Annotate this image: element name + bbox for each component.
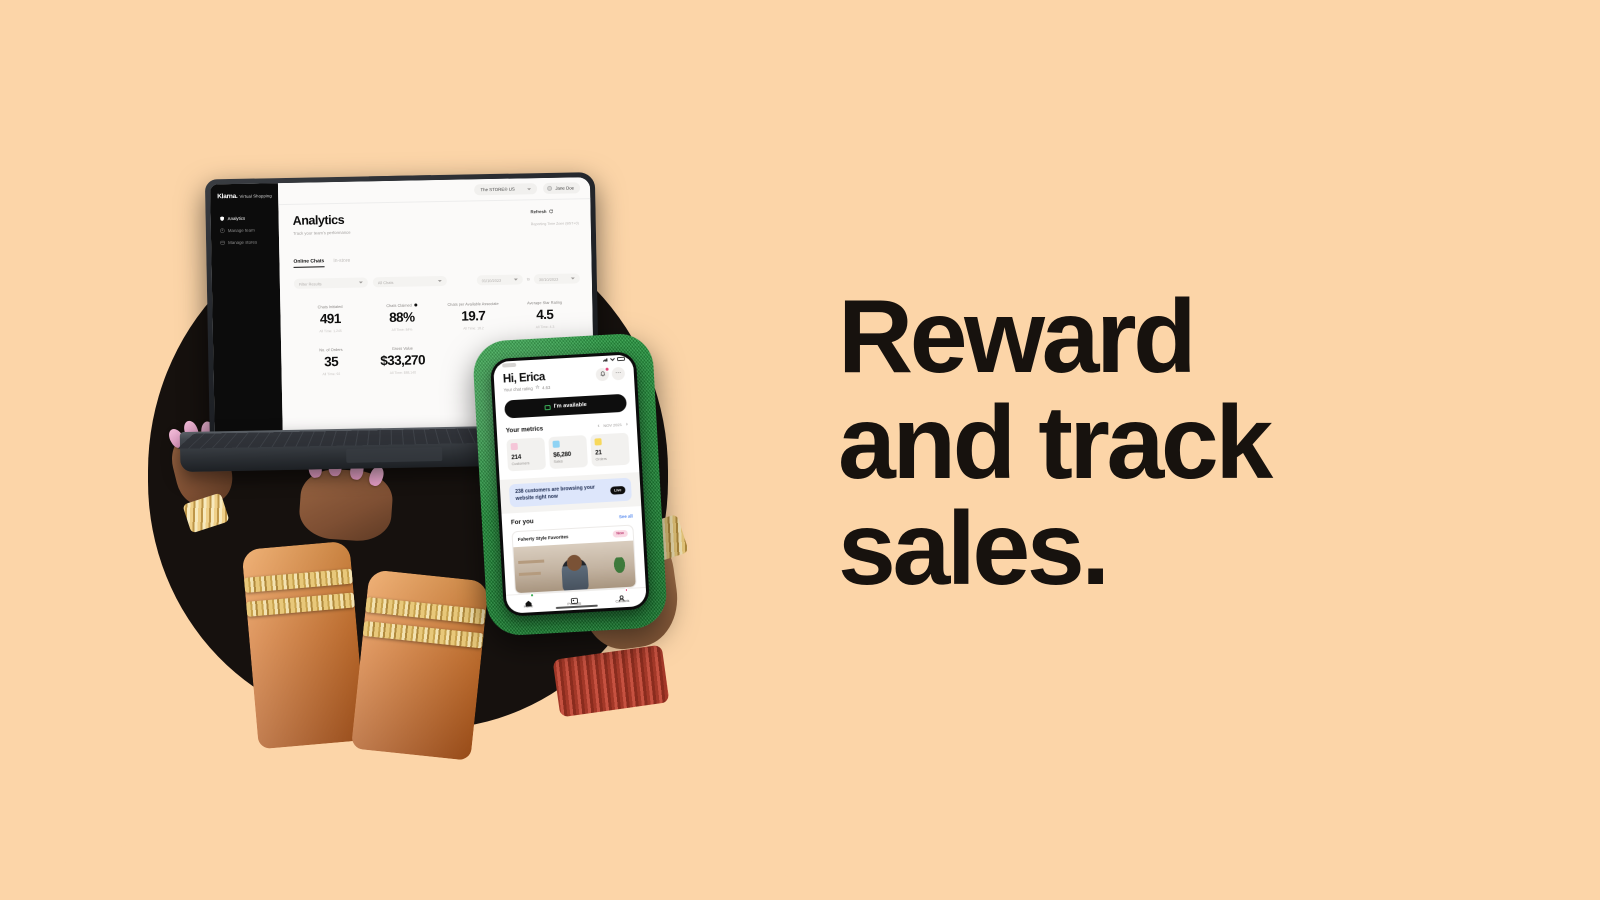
home-badge: [530, 594, 534, 598]
dashboard-sidebar: Klarna. Virtual Shopping Analytics: [210, 183, 283, 437]
greeting-text: Hi, Erica: [503, 371, 550, 386]
dashboard-header: Analytics Track your team's performance …: [293, 208, 579, 235]
chevron-down-icon: [514, 279, 518, 281]
page-title: Analytics: [293, 213, 351, 228]
metric-value: 19.7: [437, 309, 509, 324]
brand-subtitle: Virtual Shopping: [239, 193, 271, 199]
metric-caption: Sales: [554, 458, 584, 464]
see-all-link[interactable]: See all: [619, 513, 633, 519]
phone-header: Hi, Erica Your chat rating ☆ 4.63: [493, 362, 636, 428]
tab-contacts[interactable]: Contacts: [615, 589, 630, 604]
contacts-icon: [618, 589, 626, 597]
live-badge: Live: [610, 485, 626, 494]
phone-screen: Hi, Erica Your chat rating ☆ 4.63: [493, 354, 647, 613]
gold-chain-trim: [244, 569, 353, 593]
tab-products[interactable]: Products: [567, 592, 582, 607]
store-icon: [220, 240, 225, 245]
phone-device: Hi, Erica Your chat rating ☆ 4.63: [462, 328, 679, 644]
metric-note: All Time: 4.3: [509, 324, 581, 329]
blob-bottom-clip: [0, 835, 820, 900]
hero-photo-composition: Klarna. Virtual Shopping Analytics: [0, 0, 820, 900]
sidebar-item-label: Manage team: [228, 227, 255, 233]
wifi-icon: [610, 357, 615, 361]
date-from-input[interactable]: 01/10/2023: [477, 274, 523, 285]
shelf-decor: [518, 559, 544, 563]
refresh-icon: [549, 209, 554, 214]
metrics-section-title: Your metrics: [506, 426, 544, 435]
metric-card: Chats Claimed 88% All Time: 84%: [366, 302, 438, 332]
store-selector-dropdown[interactable]: The STORE® US: [474, 183, 537, 195]
availability-toggle-button[interactable]: I'm available: [504, 394, 627, 419]
sidebar-item-manage-stores[interactable]: Manage stores: [218, 235, 273, 248]
orange-leather-sleeve-left: [241, 541, 366, 750]
hero-headline: Reward and track sales.: [838, 284, 1478, 602]
shield-icon: [220, 216, 225, 221]
availability-label: I'm available: [554, 402, 587, 410]
metric-note: All Time: 84%: [366, 327, 438, 332]
new-badge: New: [612, 530, 628, 538]
customers-icon: [511, 443, 518, 450]
associates-filter-value: Filter Results: [299, 281, 322, 286]
chat-type-filter-value: All Chats: [378, 279, 394, 284]
for-you-section: For you See all Faherty Style Favorites …: [501, 506, 645, 595]
metric-note: All Time: 18.2: [438, 326, 510, 331]
date-range-to-label: to: [527, 277, 530, 281]
metric-value: $33,270: [367, 353, 439, 368]
metric-caption: Orders: [595, 456, 625, 462]
plant-decor: [612, 557, 627, 576]
chat-rating-label: Your chat rating: [503, 386, 532, 393]
month-navigator: ‹ NOV 2021 ›: [598, 421, 628, 429]
chevron-down-icon: [571, 277, 575, 279]
dashboard-tabs: Online Chats In-store: [293, 253, 579, 268]
metric-note: All Time: 92: [296, 371, 368, 376]
header-right: Refresh Reporting Time Zone (BST+0): [530, 208, 578, 226]
sidebar-item-analytics[interactable]: Analytics: [217, 211, 272, 224]
gold-chain-trim: [246, 592, 355, 616]
prev-month-button[interactable]: ‹: [598, 423, 600, 429]
brand-name: Klarna.: [217, 193, 237, 200]
info-dot-icon[interactable]: [414, 303, 417, 306]
avatar: [547, 186, 553, 192]
more-options-button[interactable]: ···: [611, 366, 625, 380]
gold-chain-trim: [365, 597, 486, 624]
for-you-card-image: [513, 540, 635, 593]
metric-value: 491: [294, 311, 366, 326]
metric-label: No. of Orders: [319, 347, 342, 352]
chevron-down-icon: [359, 282, 363, 284]
tab-online-chats[interactable]: Online Chats: [293, 258, 324, 268]
header-actions: ···: [595, 366, 625, 381]
headline-line-3: sales.: [838, 496, 1478, 602]
metric-value: 88%: [366, 310, 438, 325]
headline-line-2: and track: [838, 390, 1478, 496]
metric-label: Chats Initiated: [318, 304, 343, 309]
metric-card-orders[interactable]: 21 Orders: [590, 433, 630, 467]
notification-badge: [604, 366, 609, 371]
orders-icon: [594, 438, 601, 445]
chevron-down-icon: [527, 188, 531, 190]
metric-card: Chats per Available Associate 19.7 All T…: [437, 301, 509, 331]
metric-card: No. of Orders 35 All Time: 92: [295, 346, 367, 376]
live-visitors-banner[interactable]: 238 customers are browsing your website …: [509, 478, 632, 508]
metric-card: Average Star Rating 4.5 All Time: 4.3: [509, 299, 581, 329]
battery-icon: [617, 357, 625, 361]
tab-home[interactable]: Home: [523, 595, 533, 609]
next-month-button[interactable]: ›: [626, 421, 628, 427]
star-icon: ☆: [535, 386, 540, 391]
metric-card-customers[interactable]: 214 Customers: [506, 437, 546, 471]
refresh-button[interactable]: Refresh: [530, 208, 578, 214]
tab-in-store[interactable]: In-store: [333, 257, 350, 267]
home-indicator: [556, 605, 598, 609]
user-name: Jane Doe: [555, 185, 574, 190]
for-you-card[interactable]: Faherty Style Favorites New: [511, 524, 636, 594]
store-selector-value: The STORE® US: [480, 187, 514, 193]
signal-icon: [603, 357, 608, 361]
current-month-label: NOV 2021: [603, 422, 622, 428]
date-range-group: 01/10/2023 to 30/10/2023: [477, 273, 580, 285]
metric-label: Chats per Available Associate: [447, 301, 498, 307]
metric-card-sales[interactable]: $6,280 Sales: [548, 435, 588, 469]
date-from-value: 01/10/2023: [482, 277, 502, 282]
refresh-label: Refresh: [530, 209, 546, 214]
gold-chain-trim: [363, 621, 484, 648]
metric-label: Gross Value: [392, 346, 413, 351]
brand-logo: Klarna. Virtual Shopping: [217, 192, 272, 200]
notifications-button[interactable]: [595, 367, 609, 381]
timezone-note: Reporting Time Zone (BST+0): [531, 221, 579, 226]
smartphone: Hi, Erica Your chat rating ☆ 4.63: [490, 351, 650, 617]
user-menu[interactable]: Jane Doe: [543, 182, 581, 194]
sales-icon: [552, 441, 559, 448]
metrics-section: Your metrics ‹ NOV 2021 › 214 Customers: [497, 420, 640, 480]
metric-value: 4.5: [509, 307, 581, 322]
bell-icon: [599, 371, 605, 377]
chevron-down-icon: [438, 280, 442, 282]
date-to-input[interactable]: 30/10/2023: [534, 273, 580, 284]
date-to-value: 30/10/2023: [539, 276, 559, 281]
metric-label: Average Star Rating: [527, 300, 562, 306]
status-time: [502, 363, 516, 368]
metric-note: All Time: 1,245: [295, 328, 367, 333]
sidebar-item-label: Analytics: [228, 215, 246, 220]
sidebar-item-label: Manage stores: [228, 239, 257, 245]
chat-rating: Your chat rating ☆ 4.63: [503, 385, 550, 393]
metric-card: Chats Initiated 491 All Time: 1,245: [294, 303, 366, 333]
home-icon: [524, 595, 532, 603]
orange-leather-sleeve-right: [351, 569, 489, 761]
page-subtitle: Track your team's performance: [293, 229, 351, 235]
sidebar-item-manage-team[interactable]: Manage team: [218, 223, 273, 236]
live-visitors-text: 238 customers are browsing your website …: [515, 484, 606, 502]
laptop-trackpad: [346, 447, 442, 463]
shelf-decor: [519, 572, 541, 576]
availability-icon: [544, 405, 550, 410]
chat-rating-value: 4.63: [542, 385, 550, 390]
greeting-group: Hi, Erica Your chat rating ☆ 4.63: [503, 371, 551, 393]
filter-row: Filter Results All Chats 01/10/2023: [294, 273, 580, 288]
metric-value: 35: [295, 354, 367, 369]
metric-card: Gross Value $33,270 All Time: $88,140: [367, 345, 439, 375]
metric-note: All Time: $88,140: [367, 370, 439, 375]
metric-caption: Customers: [512, 461, 542, 467]
metric-cards-row: 214 Customers $6,280 Sales 21 Orders: [506, 433, 630, 472]
metric-label: Chats Claimed: [386, 303, 412, 308]
users-icon: [220, 228, 225, 233]
chat-type-filter-dropdown[interactable]: All Chats: [373, 276, 447, 287]
page-title-group: Analytics Track your team's performance: [293, 213, 351, 236]
headline-line-1: Reward: [838, 284, 1478, 390]
associates-filter-dropdown[interactable]: Filter Results: [294, 277, 368, 288]
products-icon: [570, 592, 578, 600]
contacts-badge: [624, 588, 628, 592]
for-you-title: For you: [511, 518, 534, 526]
for-you-card-title: Faherty Style Favorites: [518, 534, 569, 542]
status-icons: [603, 357, 625, 362]
